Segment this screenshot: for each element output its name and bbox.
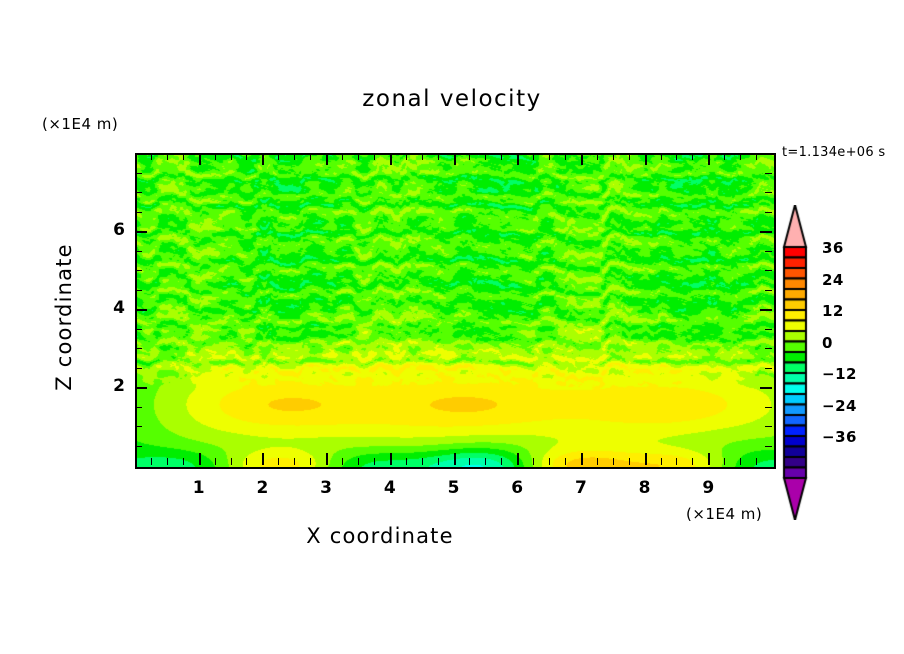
x-tick-label: 9: [693, 478, 723, 498]
x-tick-top: [199, 153, 201, 165]
x-tick-top: [740, 153, 741, 160]
x-tick-top: [422, 153, 423, 160]
y-tick: [135, 192, 142, 193]
x-tick-label: 1: [184, 478, 214, 498]
colorbar-tick-label: 24: [822, 271, 844, 289]
x-tick-top: [326, 153, 328, 165]
x-tick-top: [565, 153, 566, 160]
contour-field-canvas: [137, 155, 774, 467]
y-tick-right: [765, 270, 772, 271]
y-tick: [135, 212, 142, 213]
colorbar-tick-label: −12: [822, 365, 857, 383]
x-tick-top: [661, 153, 662, 160]
x-tick: [565, 458, 566, 465]
y-tick: [135, 231, 147, 233]
x-tick-top: [613, 153, 614, 160]
x-tick-label: 2: [247, 478, 277, 498]
x-tick: [183, 458, 184, 465]
y-axis-units: (×1E4 m): [42, 115, 118, 133]
y-tick-right: [765, 446, 772, 447]
x-tick: [613, 458, 614, 465]
colorbar-tick-label: 0: [822, 334, 833, 352]
y-tick-label: 6: [95, 220, 125, 240]
x-tick-label: 4: [375, 478, 405, 498]
colorbar-tick-label: −24: [822, 397, 857, 415]
colorbar-tick-label: 12: [822, 302, 844, 320]
x-tick-top: [724, 153, 725, 160]
x-tick-label: 6: [502, 478, 532, 498]
colorbar-tick-label: −36: [822, 428, 857, 446]
x-tick-top: [581, 153, 583, 165]
contour-plot-area: [135, 153, 776, 469]
x-tick: [262, 453, 264, 465]
x-tick-top: [231, 153, 232, 160]
y-tick: [135, 270, 142, 271]
y-tick-right: [765, 173, 772, 174]
x-tick: [581, 453, 583, 465]
x-tick-top: [390, 153, 392, 165]
time-annotation: t=1.134e+06 s: [782, 145, 885, 160]
y-tick-right: [765, 329, 772, 330]
x-tick: [278, 458, 279, 465]
x-tick-top: [215, 153, 216, 160]
y-tick-right: [765, 368, 772, 369]
x-tick-top: [151, 153, 152, 160]
x-tick: [469, 458, 470, 465]
x-tick: [310, 458, 311, 465]
y-tick-right: [765, 290, 772, 291]
x-tick-top: [517, 153, 519, 165]
y-tick-right: [760, 231, 772, 233]
x-tick: [215, 458, 216, 465]
x-tick: [326, 453, 328, 465]
x-tick: [645, 453, 647, 465]
y-tick-right: [765, 212, 772, 213]
x-tick-top: [358, 153, 359, 160]
y-tick-right: [760, 309, 772, 311]
y-tick-right: [765, 407, 772, 408]
colorbar: 3624120−12−24−36: [782, 205, 902, 520]
x-tick: [597, 458, 598, 465]
x-tick-top: [533, 153, 534, 160]
colorbar-tick-label: 36: [822, 239, 844, 257]
y-tick: [135, 368, 142, 369]
y-tick: [135, 251, 142, 252]
x-tick: [661, 458, 662, 465]
x-tick-label: 7: [566, 478, 596, 498]
x-tick-top: [262, 153, 264, 165]
x-tick: [438, 458, 439, 465]
y-tick-right: [760, 387, 772, 389]
y-tick: [135, 329, 142, 330]
x-tick-top: [342, 153, 343, 160]
y-tick: [135, 173, 142, 174]
x-tick-label: 3: [311, 478, 341, 498]
x-tick-top: [676, 153, 677, 160]
x-tick-top: [438, 153, 439, 160]
x-tick: [517, 453, 519, 465]
x-tick: [708, 453, 710, 465]
y-tick: [135, 387, 147, 389]
x-tick: [342, 458, 343, 465]
y-axis-title: Z coordinate: [52, 217, 76, 417]
x-tick-top: [485, 153, 486, 160]
x-tick: [549, 458, 550, 465]
x-tick-top: [183, 153, 184, 160]
x-tick: [756, 458, 757, 465]
y-tick-right: [765, 426, 772, 427]
x-tick-top: [469, 153, 470, 160]
x-tick-top: [629, 153, 630, 160]
y-tick: [135, 446, 142, 447]
x-tick-top: [645, 153, 647, 165]
x-tick: [740, 458, 741, 465]
x-tick: [422, 458, 423, 465]
x-tick-top: [597, 153, 598, 160]
x-tick-top: [374, 153, 375, 160]
x-tick-top: [167, 153, 168, 160]
y-tick-right: [765, 348, 772, 349]
x-tick-label: 5: [439, 478, 469, 498]
x-axis-title: X coordinate: [0, 524, 760, 548]
x-tick-top: [549, 153, 550, 160]
x-tick-top: [310, 153, 311, 160]
x-tick: [231, 458, 232, 465]
x-axis-units: (×1E4 m): [686, 505, 762, 523]
x-tick: [454, 453, 456, 465]
x-tick-top: [692, 153, 693, 160]
x-tick: [406, 458, 407, 465]
x-tick: [629, 458, 630, 465]
x-tick: [390, 453, 392, 465]
x-tick-top: [294, 153, 295, 160]
x-tick: [199, 453, 201, 465]
x-tick-top: [756, 153, 757, 160]
x-tick-top: [278, 153, 279, 160]
y-tick-right: [765, 192, 772, 193]
chart-title: zonal velocity: [0, 86, 904, 112]
y-tick: [135, 290, 142, 291]
x-tick: [167, 458, 168, 465]
x-tick: [501, 458, 502, 465]
y-tick: [135, 348, 142, 349]
x-tick: [374, 458, 375, 465]
x-tick-top: [708, 153, 710, 165]
x-tick-label: 8: [630, 478, 660, 498]
y-tick-right: [765, 251, 772, 252]
x-tick: [724, 458, 725, 465]
x-tick: [151, 458, 152, 465]
x-tick-top: [501, 153, 502, 160]
x-tick: [533, 458, 534, 465]
x-tick-top: [406, 153, 407, 160]
x-tick: [485, 458, 486, 465]
y-tick: [135, 426, 142, 427]
y-tick: [135, 407, 142, 408]
y-tick: [135, 309, 147, 311]
x-tick: [676, 458, 677, 465]
x-tick-top: [246, 153, 247, 160]
y-tick-label: 4: [95, 298, 125, 318]
x-tick: [294, 458, 295, 465]
y-tick-label: 2: [95, 376, 125, 396]
x-tick: [358, 458, 359, 465]
x-tick-top: [454, 153, 456, 165]
x-tick: [246, 458, 247, 465]
x-tick: [692, 458, 693, 465]
